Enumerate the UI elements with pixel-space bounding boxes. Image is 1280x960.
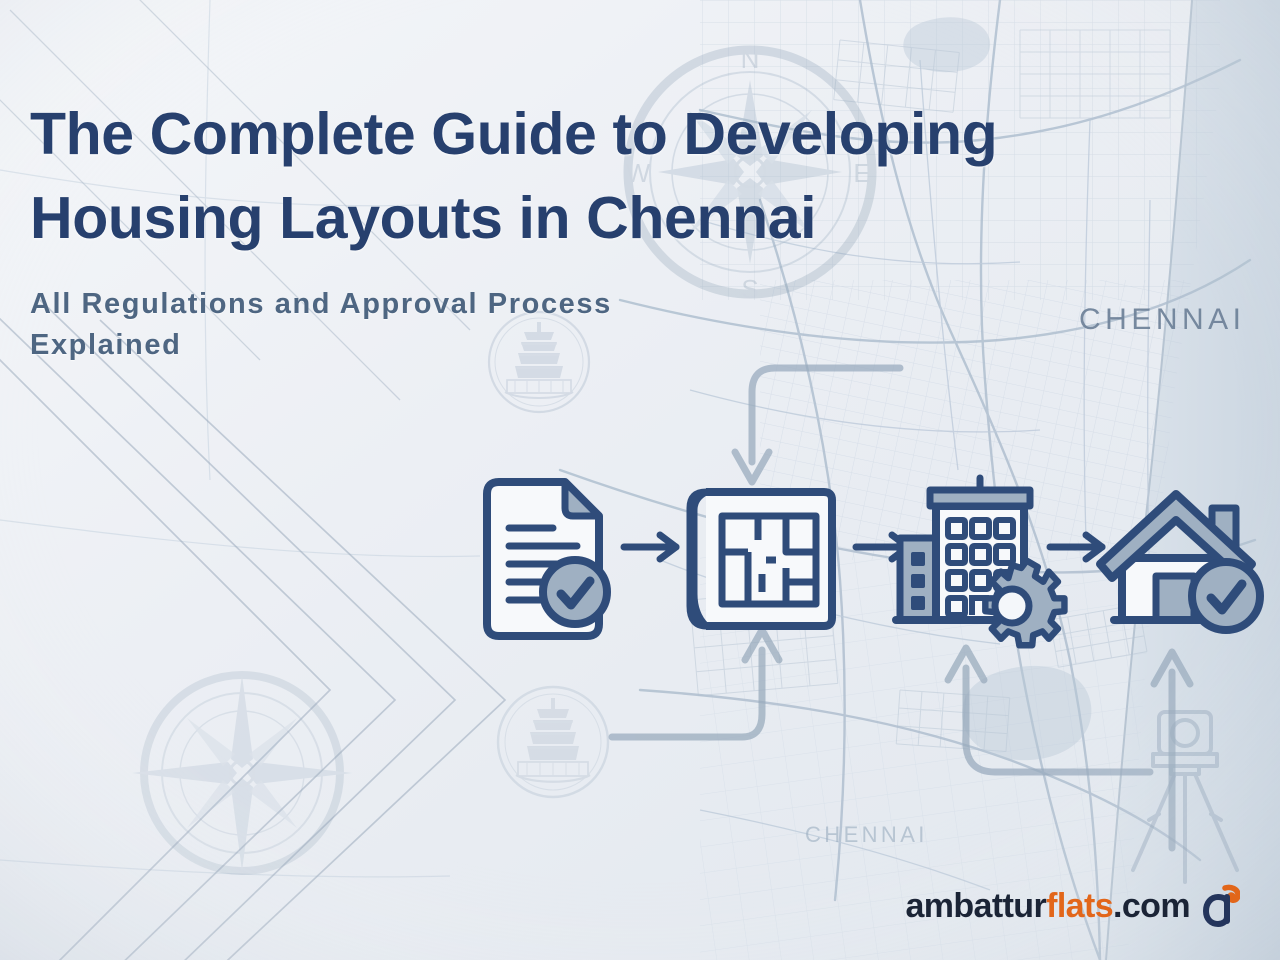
logo-wordmark: ambatturflats.com	[905, 889, 1190, 923]
map-label-chennai-secondary: CHENNAI	[805, 822, 928, 848]
process-step-document-approved	[487, 482, 607, 636]
monogram-a-stroke	[1206, 897, 1227, 924]
map-label-chennai-primary: CHENNAI	[1079, 303, 1246, 337]
process-step-building-gear	[896, 478, 1064, 645]
arrow-right-icon	[624, 535, 676, 559]
process-step-blueprint	[690, 492, 832, 626]
logo-monogram-af	[1200, 884, 1240, 928]
page-subtitle: All Regulations and Approval Process Exp…	[30, 284, 730, 366]
page-title: The Complete Guide to Developing Housing…	[30, 92, 1090, 260]
hero-banner: N S W E	[0, 0, 1280, 960]
site-logo[interactable]: ambatturflats.com	[905, 884, 1240, 928]
building-wing-windows	[911, 552, 925, 610]
logo-text-ambattur: ambattur	[905, 887, 1046, 925]
gear-icon	[985, 561, 1064, 646]
title-line-2: Housing Layouts in Chennai	[30, 176, 1090, 260]
process-step-house-approved	[1100, 494, 1260, 630]
title-line-1: The Complete Guide to Developing	[30, 92, 1090, 176]
subtitle-line-2: Explained	[30, 325, 730, 366]
logo-text-dotcom: .com	[1113, 887, 1190, 925]
approval-check-badge	[543, 560, 607, 624]
arrow-right-icon	[1050, 535, 1102, 559]
subtitle-line-1: All Regulations and Approval Process	[30, 284, 730, 325]
logo-text-flats: flats	[1046, 887, 1113, 925]
approval-check-badge	[1192, 562, 1260, 630]
